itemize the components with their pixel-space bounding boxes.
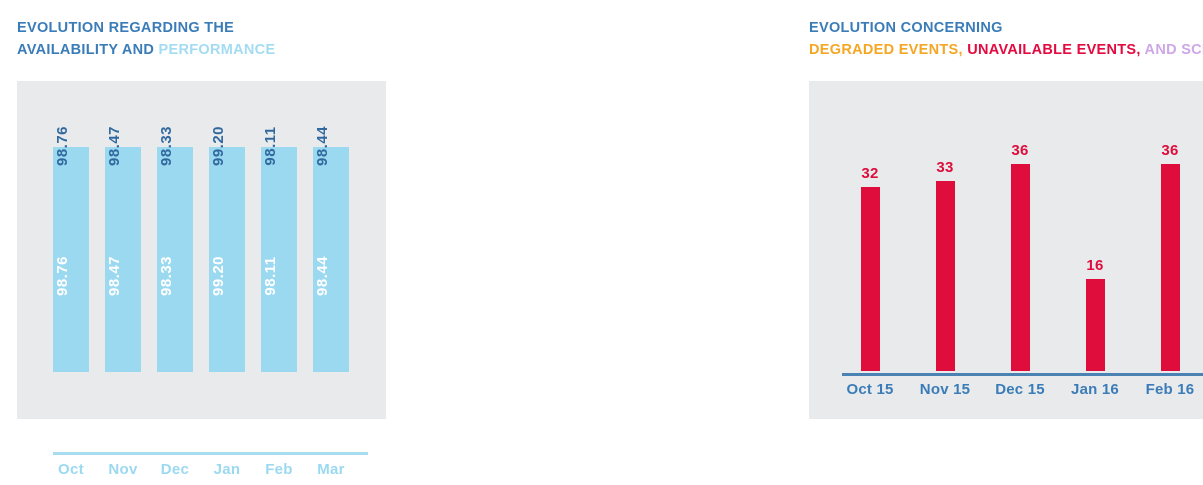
availability-panel: EVOLUTION REGARDING THE AVAILABILITY AND… — [0, 0, 396, 429]
availability-bar-value-above-text: 99.20 — [210, 126, 227, 166]
events-chart-area: 323336163636 Oct 15Nov 15Dec 15Jan 16Feb… — [809, 81, 1203, 419]
left-title-line2-dark-text: AVAILABILITY AND — [17, 42, 154, 58]
events-bars: 323336163636 — [842, 141, 1203, 371]
events-bar-group: 32 — [842, 141, 898, 371]
availability-bar-value-above-text: 98.47 — [106, 126, 123, 166]
left-title-line1-text: EVOLUTION REGARDING THE — [17, 20, 234, 36]
availability-bar-value-inside-text: 98.76 — [54, 256, 71, 296]
left-title-line-2: AVAILABILITY AND PERFORMANCE — [17, 39, 275, 61]
events-bar-group: 36 — [1142, 141, 1198, 371]
availability-bar-value-above-text: 98.11 — [262, 126, 279, 165]
availability-month-label: Feb — [261, 461, 297, 478]
events-month-label: Dec 15 — [992, 381, 1048, 398]
right-chart-title: EVOLUTION CONCERNING DEGRADED EVENTS, UN… — [809, 17, 1203, 61]
events-bar-value-label: 36 — [992, 142, 1048, 159]
events-bar-group: 33 — [917, 141, 973, 371]
availability-bar-value-inside-text: 98.11 — [262, 256, 279, 295]
events-bar — [861, 187, 880, 371]
events-bar-value-label: 33 — [917, 159, 973, 176]
availability-bar-group: 98.1198.11 — [261, 147, 297, 372]
events-bar — [1086, 279, 1105, 371]
events-axis-line — [842, 373, 1203, 376]
availability-bar-value-inside-text: 98.44 — [314, 256, 331, 296]
events-bar — [936, 181, 955, 371]
events-bar-value-label: 16 — [1067, 257, 1123, 274]
availability-month-label: Dec — [157, 461, 193, 478]
right-title-line1-text: EVOLUTION CONCERNING — [809, 20, 1003, 36]
availability-bar-value-above-text: 98.33 — [158, 126, 175, 166]
availability-month-label: Nov — [105, 461, 141, 478]
availability-bar-value-above-text: 98.44 — [314, 126, 331, 166]
left-title-line2-light-text: PERFORMANCE — [159, 42, 276, 58]
left-title-line-1: EVOLUTION REGARDING THE — [17, 17, 275, 39]
events-month-label: Oct 15 — [842, 381, 898, 398]
availability-bar-value-inside-text: 99.20 — [210, 256, 227, 296]
events-bar-value-label: 36 — [1142, 142, 1198, 159]
availability-bar-group: 99.2099.20 — [209, 147, 245, 372]
events-bar — [1161, 164, 1180, 371]
events-panel: EVOLUTION CONCERNING DEGRADED EVENTS, UN… — [396, 0, 1203, 429]
availability-bar-group: 98.4498.44 — [313, 147, 349, 372]
right-title-line-2: DEGRADED EVENTS, UNAVAILABLE EVENTS, AND… — [809, 39, 1203, 61]
scheduled-downtime-text: AND SCHEDULED DOWNTIME — [1145, 42, 1203, 58]
left-chart-title: EVOLUTION REGARDING THE AVAILABILITY AND… — [17, 17, 275, 61]
degraded-events-text: DEGRADED EVENTS, — [809, 42, 963, 58]
availability-month-label: Jan — [209, 461, 245, 478]
availability-axis-line — [53, 452, 368, 455]
availability-bar-group: 98.3398.33 — [157, 147, 193, 372]
availability-month-label: Oct — [53, 461, 89, 478]
events-bar-group: 36 — [992, 141, 1048, 371]
unavailable-events-text: UNAVAILABLE EVENTS, — [967, 42, 1141, 58]
right-title-line-1: EVOLUTION CONCERNING — [809, 17, 1203, 39]
events-bar-group: 16 — [1067, 141, 1123, 371]
events-month-label: Jan 16 — [1067, 381, 1123, 398]
events-month-label: Nov 15 — [917, 381, 973, 398]
availability-bar-value-inside-text: 98.47 — [106, 256, 123, 296]
events-month-labels: Oct 15Nov 15Dec 15Jan 16Feb 16Mar 16 — [842, 381, 1203, 405]
availability-month-labels: OctNovDecJanFebMar — [53, 461, 368, 485]
events-month-label: Feb 16 — [1142, 381, 1198, 398]
events-bar — [1011, 164, 1030, 371]
availability-month-label: Mar — [313, 461, 349, 478]
availability-chart-area: 98.7698.7698.4798.4798.3398.3399.2099.20… — [17, 81, 386, 419]
availability-bars: 98.7698.7698.4798.4798.3398.3399.2099.20… — [53, 147, 368, 372]
availability-bar-value-above-text: 98.76 — [54, 126, 71, 166]
availability-bar-group: 98.7698.76 — [53, 147, 89, 372]
availability-bar-value-inside-text: 98.33 — [158, 256, 175, 296]
availability-bar-group: 98.4798.47 — [105, 147, 141, 372]
events-bar-value-label: 32 — [842, 165, 898, 182]
